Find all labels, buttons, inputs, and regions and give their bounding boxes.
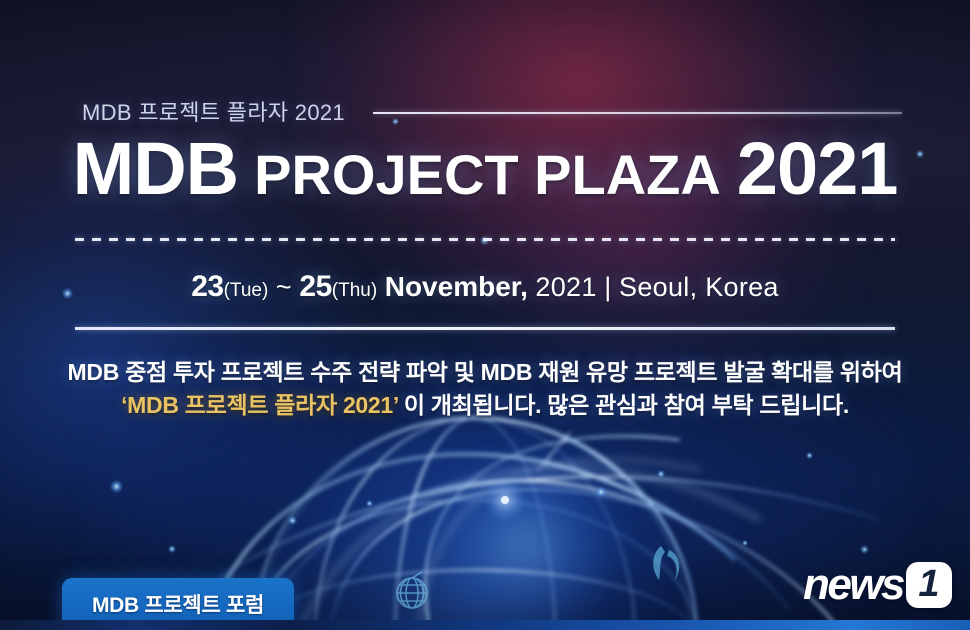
news1-logo[interactable]: news 1 bbox=[803, 562, 952, 608]
description-line-2: ‘MDB 프로젝트 플라자 2021’ 이 개최됩니다. 많은 관심과 참여 부… bbox=[0, 389, 970, 422]
date-end-day: 25 bbox=[299, 270, 331, 303]
dashed-divider bbox=[75, 238, 895, 241]
date-year: 2021 bbox=[535, 272, 596, 302]
news1-logo-badge: 1 bbox=[906, 562, 952, 608]
kicker-rule bbox=[373, 112, 902, 114]
poster-banner: MDB 프로젝트 플라자 2021 MDBPROJECT PLAZA2021 2… bbox=[0, 0, 970, 630]
forum-badge-label: MDB 프로젝트 포럼 bbox=[92, 589, 264, 619]
date-end-weekday: (Thu) bbox=[332, 280, 377, 301]
date-start-day: 23 bbox=[191, 270, 223, 303]
description-rest: 이 개최됩니다. 많은 관심과 참여 부탁 드립니다. bbox=[398, 392, 849, 418]
event-dateline: 23(Tue) ~ 25(Thu) November, 2021 | Seoul… bbox=[0, 270, 970, 304]
kicker-row: MDB 프로젝트 플라자 2021 bbox=[82, 92, 902, 130]
description-block: MDB 중점 투자 프로젝트 수주 전략 파악 및 MDB 재원 유망 프로젝트… bbox=[0, 356, 970, 421]
news1-logo-word: news bbox=[803, 563, 903, 607]
date-range-separator: ~ bbox=[276, 272, 292, 302]
title-part-mdb: MDB bbox=[73, 127, 239, 210]
title-part-year: 2021 bbox=[737, 127, 898, 210]
bottom-accent-strip bbox=[0, 620, 970, 630]
description-line-1: MDB 중점 투자 프로젝트 수주 전략 파악 및 MDB 재원 유망 프로젝트… bbox=[0, 356, 970, 389]
solid-divider bbox=[75, 327, 895, 330]
news1-logo-digit: 1 bbox=[918, 565, 939, 603]
date-month: November, bbox=[385, 271, 528, 302]
date-start-weekday: (Tue) bbox=[224, 280, 269, 301]
kicker-text: MDB 프로젝트 플라자 2021 bbox=[82, 95, 345, 127]
page-title: MDBPROJECT PLAZA2021 bbox=[0, 132, 970, 206]
date-location-separator: | bbox=[604, 272, 611, 302]
title-part-project-plaza: PROJECT PLAZA bbox=[254, 143, 721, 206]
event-location: Seoul, Korea bbox=[619, 272, 779, 302]
description-highlight: MDB 프로젝트 플라자 2021 bbox=[127, 392, 393, 418]
